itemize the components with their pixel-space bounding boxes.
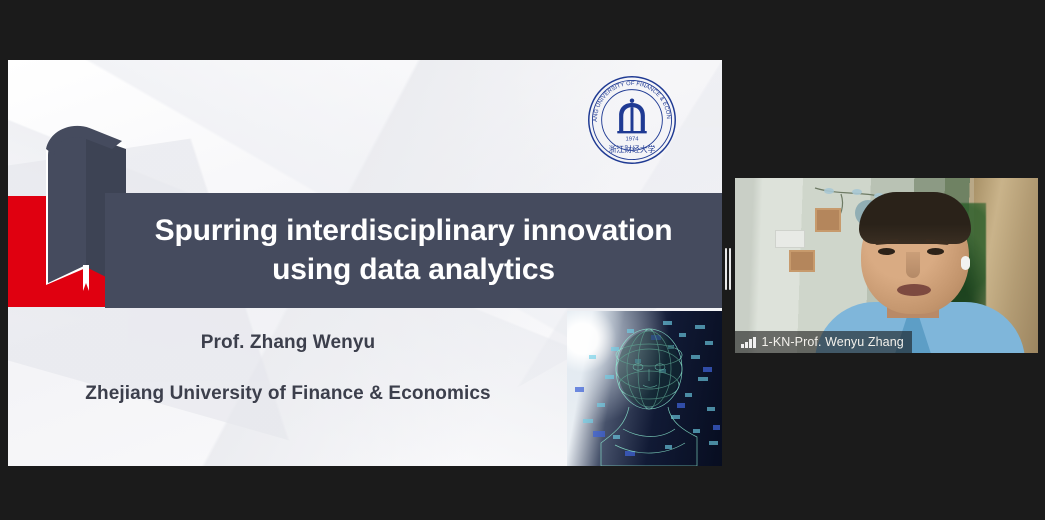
svg-text:浙江财经大学: 浙江财经大学: [609, 144, 656, 154]
share-resize-handle[interactable]: [723, 248, 733, 290]
participant-person: [821, 184, 1013, 353]
wall-switch-plate: [775, 230, 805, 248]
webcam-feed: [735, 178, 1038, 353]
presenter-info: Prof. Zhang Wenyu Zhejiang University of…: [8, 332, 568, 405]
wall-picture-frame: [789, 250, 815, 272]
signal-bars-icon: [741, 337, 756, 348]
meeting-viewport: Spurring interdisciplinary innovation us…: [0, 0, 1045, 520]
handle-line: [729, 248, 731, 290]
earbud: [961, 256, 970, 270]
wireframe-digital-human-image: [567, 311, 722, 466]
slide-title-band: Spurring interdisciplinary innovation us…: [105, 193, 722, 308]
shared-presentation-slide[interactable]: Spurring interdisciplinary innovation us…: [8, 60, 722, 466]
presenter-affiliation: Zhejiang University of Finance & Economi…: [8, 383, 568, 405]
university-seal-icon: ZHEJIANG UNIVERSITY OF FINANCE & ECONOMI…: [586, 74, 678, 166]
handle-line: [725, 248, 727, 290]
page-title: Spurring interdisciplinary innovation us…: [105, 212, 722, 289]
participant-label-bar: 1-KN-Prof. Wenyu Zhang: [735, 331, 912, 353]
participant-name-label: 1-KN-Prof. Wenyu Zhang: [762, 335, 904, 349]
svg-text:1974: 1974: [625, 137, 639, 143]
participant-video-tile[interactable]: 1-KN-Prof. Wenyu Zhang: [735, 178, 1038, 353]
presenter-name: Prof. Zhang Wenyu: [8, 332, 568, 354]
